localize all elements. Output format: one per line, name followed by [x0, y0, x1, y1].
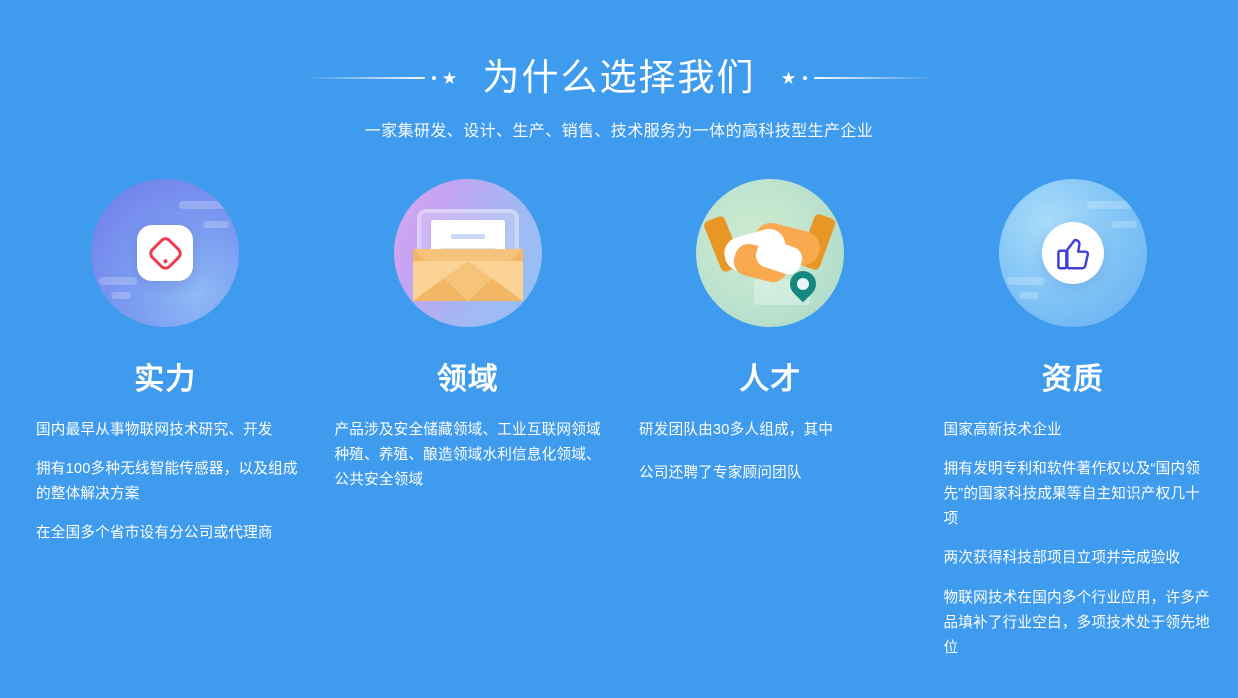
- card-heading-field: 领域: [437, 363, 499, 396]
- card-body-talent: 研发团队由30多人组成，其中 公司还聘了专家顾问团队: [629, 418, 912, 504]
- envelope-letter-icon: [394, 179, 542, 327]
- thumb-up-glyph: [1054, 235, 1092, 271]
- decoration-dot-right: [803, 76, 807, 80]
- feature-card-talent: 人才 研发团队由30多人组成，其中 公司还聘了专家顾问团队: [619, 179, 922, 504]
- card-paragraph: 国家高新技术企业: [944, 418, 1213, 443]
- handshake-location-icon: [696, 179, 844, 327]
- star-icon-right: [782, 71, 796, 85]
- thumbs-up-icon: [999, 179, 1147, 327]
- envelope-flap: [413, 261, 523, 301]
- card-paragraph: 研发团队由30多人组成，其中: [639, 418, 896, 443]
- card-paragraph: 物联网技术在国内多个行业应用，许多产品填补了行业空白，多项技术处于领先地位: [944, 586, 1213, 661]
- card-heading-talent: 人才: [739, 363, 801, 396]
- section-header: 为什么选择我们 一家集研发、设计、生产、销售、技术服务为一体的高科技型生产企业: [0, 0, 1238, 143]
- feature-card-qualification: 资质 国家高新技术企业 拥有发明专利和软件著作权以及“国内领先”的国家科技成果等…: [922, 179, 1225, 661]
- card-heading-strength: 实力: [134, 363, 196, 396]
- icon-tile: [137, 225, 193, 281]
- decoration-line-right: [814, 77, 932, 79]
- handshake-shape: [710, 203, 830, 303]
- page-title: 为什么选择我们: [457, 58, 782, 99]
- star-icon-left: [443, 71, 457, 85]
- card-heading-qualification: 资质: [1042, 363, 1104, 396]
- diamond-shape: [146, 234, 184, 272]
- card-paragraph: 拥有发明专利和软件著作权以及“国内领先”的国家科技成果等自主知识产权几十项: [944, 457, 1213, 532]
- page-subtitle: 一家集研发、设计、生产、销售、技术服务为一体的高科技型生产企业: [0, 121, 1238, 143]
- card-paragraph: 在全国多个省市设有分公司或代理商: [36, 521, 299, 546]
- left-decoration: [307, 68, 457, 88]
- card-body-qualification: 国家高新技术企业 拥有发明专利和软件著作权以及“国内领先”的国家科技成果等自主知…: [932, 418, 1215, 661]
- feature-card-field: 领域 产品涉及安全储藏领域、工业互联网领域种殖、养殖、酿造领域水利信息化领域、公…: [317, 179, 620, 493]
- decoration-line-left: [307, 77, 425, 79]
- card-paragraph: 国内最早从事物联网技术研究、开发: [36, 418, 299, 443]
- right-decoration: [782, 68, 932, 88]
- card-paragraph: 公司还聘了专家顾问团队: [639, 461, 896, 486]
- tag-diamond-icon: [91, 179, 239, 327]
- feature-card-strength: 实力 国内最早从事物联网技术研究、开发 拥有100多种无线智能传感器，以及组成的…: [14, 179, 317, 546]
- card-body-strength: 国内最早从事物联网技术研究、开发 拥有100多种无线智能传感器，以及组成的整体解…: [24, 418, 307, 546]
- card-paragraph: 两次获得科技部项目立项并完成验收: [944, 546, 1213, 571]
- envelope-shape: [413, 205, 523, 301]
- feature-card-list: 实力 国内最早从事物联网技术研究、开发 拥有100多种无线智能传感器，以及组成的…: [0, 179, 1238, 661]
- title-row: 为什么选择我们: [0, 58, 1238, 99]
- card-paragraph: 产品涉及安全储藏领域、工业互联网领域种殖、养殖、酿造领域水利信息化领域、公共安全…: [335, 418, 606, 493]
- icon-circle: [1042, 222, 1104, 284]
- card-body-field: 产品涉及安全储藏领域、工业互联网领域种殖、养殖、酿造领域水利信息化领域、公共安全…: [327, 418, 610, 493]
- decoration-dot-left: [432, 76, 436, 80]
- card-paragraph: 拥有100多种无线智能传感器，以及组成的整体解决方案: [36, 457, 299, 507]
